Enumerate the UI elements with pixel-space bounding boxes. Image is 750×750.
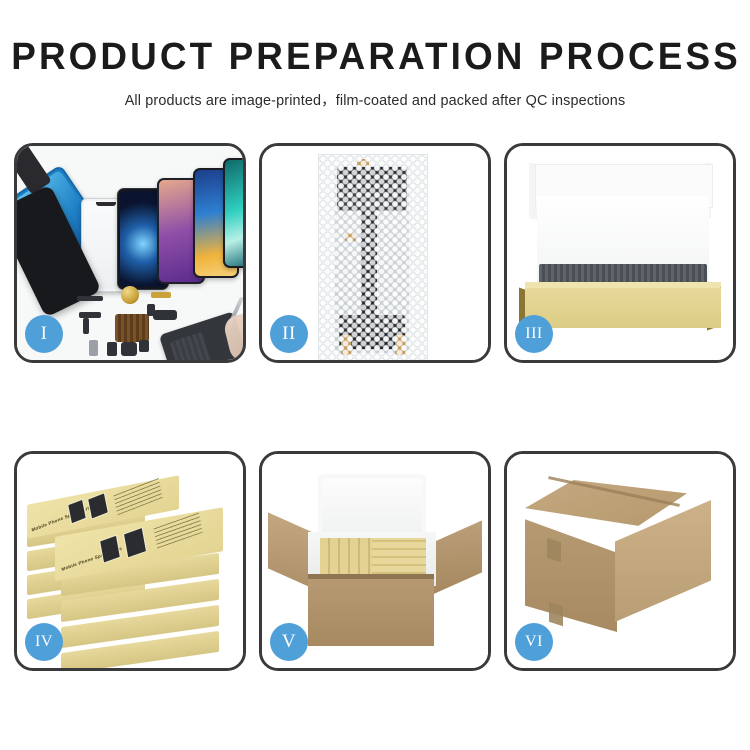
step-4-badge: IV bbox=[25, 623, 63, 661]
speaker-module-icon bbox=[121, 286, 139, 304]
step-5-image: V bbox=[262, 454, 488, 668]
foam-lid-icon bbox=[318, 474, 426, 540]
step-4-image: Mobile Phone Spare Parts Mobile Phone Sp… bbox=[17, 454, 243, 668]
step-6-badge: VI bbox=[515, 623, 553, 661]
step-2-badge: II bbox=[270, 315, 308, 353]
box-window-4 bbox=[123, 527, 147, 559]
carton-tape-lower bbox=[549, 602, 563, 627]
connector-icon bbox=[153, 310, 177, 320]
carton-right-flap bbox=[430, 520, 482, 595]
carton-body-icon bbox=[308, 574, 434, 646]
carton-left-face bbox=[525, 512, 617, 632]
yellow-box-front-icon bbox=[525, 288, 721, 328]
step-3-badge: III bbox=[515, 315, 553, 353]
process-step-1: I bbox=[14, 143, 246, 363]
flex-cable-gold-icon bbox=[151, 292, 171, 298]
step-2-image: II bbox=[262, 146, 488, 360]
battery-connector-icon bbox=[89, 340, 98, 356]
carton-tape-upper bbox=[547, 538, 561, 563]
product-preparation-infographic: PRODUCT PREPARATION PROCESS All products… bbox=[0, 0, 750, 750]
process-step-4: Mobile Phone Spare Parts Mobile Phone Sp… bbox=[14, 451, 246, 671]
camera-module-icon bbox=[107, 342, 117, 356]
process-step-3: III bbox=[504, 143, 736, 363]
page-title: PRODUCT PREPARATION PROCESS bbox=[11, 38, 739, 78]
bubble-texture bbox=[319, 155, 427, 360]
flex-cable-4-icon bbox=[83, 318, 89, 334]
process-step-2: II bbox=[259, 143, 491, 363]
flex-cable-3-icon bbox=[79, 312, 101, 318]
phone-screen-d-icon bbox=[223, 158, 243, 268]
process-step-5: V bbox=[259, 451, 491, 671]
vibrator-icon bbox=[121, 342, 137, 356]
process-step-6: VI bbox=[504, 451, 736, 671]
step-5-badge: V bbox=[270, 623, 308, 661]
page-subtitle: All products are image-printed，film-coat… bbox=[0, 89, 750, 110]
header: PRODUCT PREPARATION PROCESS All products… bbox=[0, 38, 750, 110]
box-spec-lines-front bbox=[153, 512, 202, 549]
chip-grid-icon bbox=[115, 314, 149, 342]
small-part-icon bbox=[139, 340, 149, 352]
process-step-grid: I II bbox=[14, 143, 736, 691]
box-spec-lines-back bbox=[113, 477, 162, 515]
bubble-wrap-bag bbox=[318, 154, 428, 360]
box-window-3 bbox=[99, 535, 121, 564]
step-1-badge: I bbox=[25, 315, 63, 353]
step-3-image: III bbox=[507, 146, 733, 360]
step-1-image: I bbox=[17, 146, 243, 360]
step-6-image: VI bbox=[507, 454, 733, 668]
box-window-1 bbox=[67, 499, 87, 525]
flex-cable-1-icon bbox=[77, 296, 103, 301]
box-window-2 bbox=[87, 492, 109, 520]
